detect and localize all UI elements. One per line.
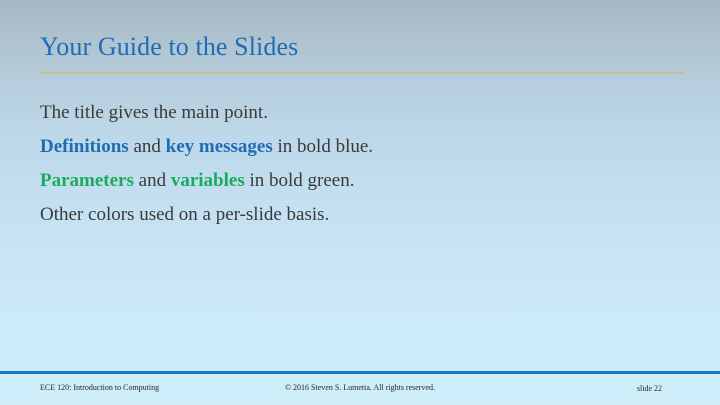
body-line-4: Other colors used on a per-slide basis. xyxy=(40,198,680,232)
page-title: Your Guide to the Slides xyxy=(40,32,298,62)
slide-body: The title gives the main point. Definiti… xyxy=(40,96,680,232)
body-line-3-tail: in bold green. xyxy=(245,170,355,191)
body-line-2-tail: in bold blue. xyxy=(273,136,373,157)
parameters-term: Parameters xyxy=(40,170,134,191)
body-line-1-text: The title gives the main point. xyxy=(40,102,268,123)
variables-term: variables xyxy=(171,170,245,191)
definitions-term: Definitions xyxy=(40,136,129,157)
slide-canvas: Your Guide to the Slides The title gives… xyxy=(0,0,720,405)
key-messages-term: key messages xyxy=(166,136,273,157)
body-line-3: Parameters and variables in bold green. xyxy=(40,164,680,198)
slide-footer: ECE 120: Introduction to Computing © 201… xyxy=(0,383,720,397)
footer-slide-number: slide 22 xyxy=(637,384,662,393)
body-line-2-conjunction: and xyxy=(129,136,166,157)
body-line-4-text: Other colors used on a per-slide basis. xyxy=(40,204,329,225)
title-underline-rule xyxy=(40,72,685,74)
body-line-2: Definitions and key messages in bold blu… xyxy=(40,130,680,164)
footer-copyright-label: © 2016 Steven S. Lumetta. All rights res… xyxy=(0,383,720,392)
body-line-3-conjunction: and xyxy=(134,170,171,191)
body-line-1: The title gives the main point. xyxy=(40,96,680,130)
footer-divider-bar xyxy=(0,371,720,374)
